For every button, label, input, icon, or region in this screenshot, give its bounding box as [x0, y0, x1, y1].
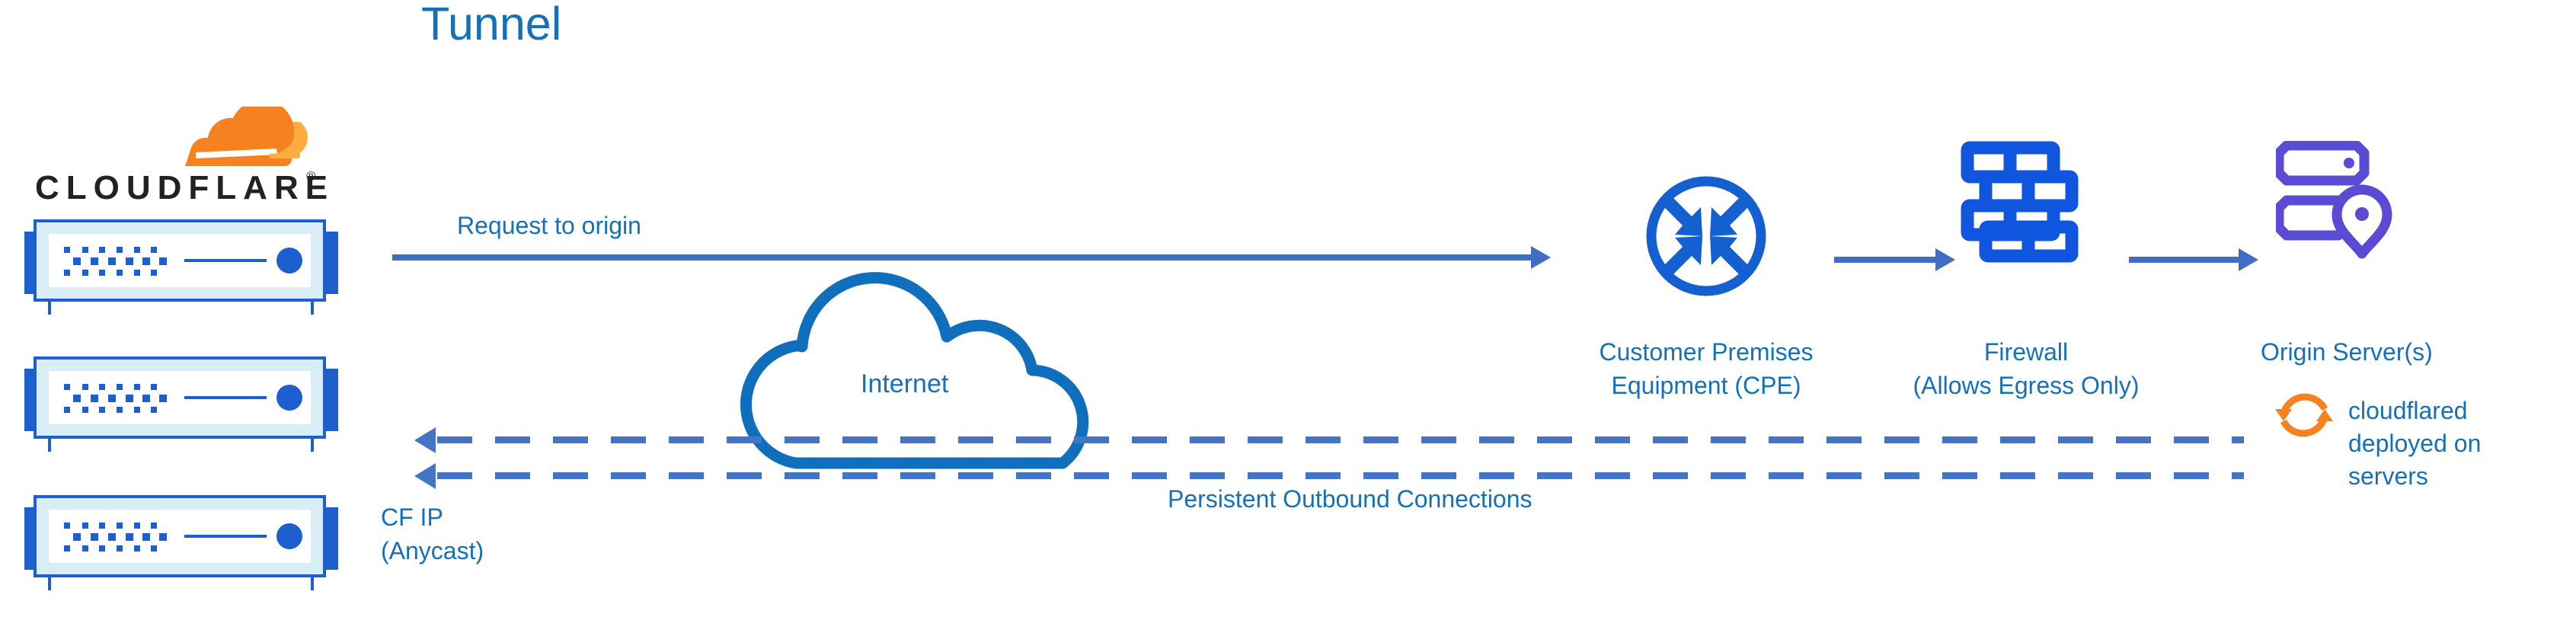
- cloudflared-line1: cloudflared: [2348, 396, 2468, 425]
- internet-cloud-icon: [705, 221, 1169, 472]
- return-arrow-head-1: [414, 427, 436, 453]
- cloudflare-cloud-icon: [14, 107, 326, 175]
- cf-server-1: [8, 212, 347, 315]
- registered-mark: ®: [306, 169, 316, 184]
- origin-label-line1: Origin Server(s): [2261, 337, 2433, 366]
- return-dashed-line-1: [437, 436, 2244, 443]
- return-dashed-line-2: [437, 472, 2244, 479]
- return-arrow-head-2: [414, 463, 436, 489]
- sync-arrows-icon: [2274, 385, 2335, 446]
- cf-server-3: [8, 488, 347, 590]
- firewall-to-origin-arrow-line: [2129, 257, 2239, 263]
- internet-label: Internet: [861, 369, 948, 399]
- request-arrow-head: [1531, 246, 1551, 269]
- cpe-to-firewall-arrow-line: [1834, 257, 1936, 263]
- firewall-label-line2: (Allows Egress Only): [1855, 371, 2197, 400]
- cpe-to-firewall-arrow-head: [1935, 248, 1955, 271]
- brick-wall-icon: [1961, 141, 2079, 263]
- cf-server-2: [8, 349, 347, 452]
- request-to-origin-label: Request to origin: [457, 211, 641, 240]
- cpe-label-line1: Customer Premises: [1546, 337, 1866, 366]
- cloudflare-wordmark: CLOUDFLARE: [35, 169, 334, 207]
- cf-ip-label-line2: (Anycast): [381, 536, 484, 565]
- server-rack-pin-icon: [2276, 141, 2398, 261]
- cloudflared-line2: deployed on: [2348, 429, 2481, 458]
- page-title: Tunnel: [421, 0, 561, 47]
- persistent-outbound-connections-label: Persistent Outbound Connections: [1168, 484, 1532, 513]
- cloudflared-line3: servers: [2348, 462, 2428, 491]
- cpe-label-line2: Equipment (CPE): [1546, 371, 1866, 400]
- firewall-to-origin-arrow-head: [2239, 248, 2258, 271]
- cf-ip-label-line1: CF IP: [381, 503, 443, 532]
- firewall-label-line1: Firewall: [1874, 337, 2178, 366]
- cloudflare-logo: CLOUDFLARE ®: [14, 107, 326, 206]
- converging-arrows-circle-icon: [1641, 171, 1771, 301]
- tunnel-diagram: Tunnel CLOUDFLARE ®: [0, 0, 2576, 617]
